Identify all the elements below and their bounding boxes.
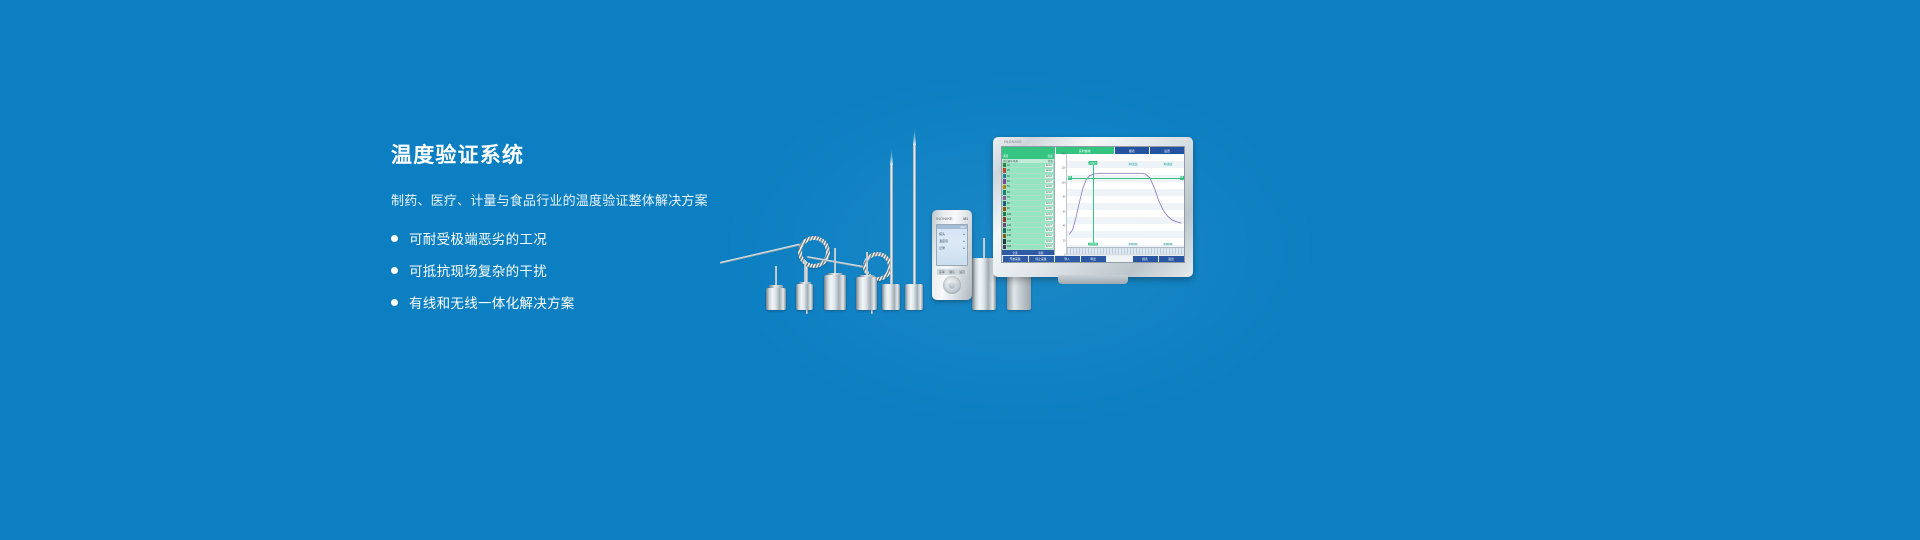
- handheld-menu-row[interactable]: 探头 ▸: [937, 232, 967, 236]
- logger-stem: [834, 248, 836, 274]
- handheld-model-label: M1: [963, 217, 968, 221]
- toolbar-spacer: [1107, 256, 1132, 262]
- chart-y-tick: 60: [1063, 210, 1066, 213]
- channel-color-swatch: [1003, 174, 1006, 178]
- logger-body: [796, 284, 813, 310]
- feature-label: 可抵抗现场复杂的干扰: [409, 260, 547, 280]
- handheld-softkeys: 菜单 确认 返回: [936, 269, 968, 275]
- logger-stem: [775, 266, 777, 286]
- channel-value: 121.4: [1045, 164, 1053, 167]
- feature-label: 有线和无线一体化解决方案: [409, 292, 575, 312]
- needle-probe-base-2: [905, 284, 923, 310]
- needle-probe-base-1: [882, 284, 900, 310]
- chart-y-tick: 120: [1061, 167, 1065, 170]
- chart-peak-annotation: 升温点: [1088, 161, 1097, 165]
- exit-button[interactable]: 退出: [1159, 256, 1184, 262]
- list-item: 可耐受极端恶劣的工况: [391, 228, 731, 248]
- channel-color-swatch: [1003, 163, 1006, 167]
- channel-color-swatch: [1003, 201, 1006, 205]
- channel-color-swatch: [1003, 179, 1006, 183]
- channel-value: 121.3: [1045, 175, 1053, 178]
- handheld-menu-row[interactable]: 温度值 ▸: [937, 239, 967, 243]
- channel-color-swatch: [1003, 239, 1006, 243]
- chart-ghost-label-d: 0:05:00: [1163, 243, 1173, 246]
- chart-y-tick: 20: [1063, 239, 1066, 242]
- handheld-key-menu[interactable]: 菜单: [937, 269, 947, 275]
- chart-time-annotation: 0:05:00: [1088, 242, 1098, 245]
- channel-color-swatch: [1003, 245, 1006, 249]
- chart-ghost-label-b: F0 终点: [1163, 162, 1173, 166]
- channel-id: 12#: [1007, 224, 1020, 227]
- monitor-bezel: INONIKE 实时曲线 报表 设置 通道: [993, 137, 1193, 277]
- channel-id: 4#: [1007, 180, 1020, 183]
- chevron-right-icon: ▸: [963, 239, 965, 243]
- banner-subtitle: 制药、医疗、计量与食品行业的温度验证整体解决方案: [391, 190, 731, 209]
- channel-value: 121.2: [1045, 191, 1053, 194]
- channel-id: 2#: [1007, 169, 1020, 172]
- logger-stem: [804, 260, 806, 284]
- channel-color-swatch: [1003, 228, 1006, 232]
- app-body: 通道 温度 测点编号/名称 状态 1#121.42#121.63#121.34#…: [1002, 154, 1184, 255]
- channel-value: 121.7: [1045, 180, 1053, 183]
- channel-value: 121.3: [1045, 213, 1053, 216]
- channel-table-rows: 1#121.42#121.63#121.34#121.75#121.56#121…: [1002, 163, 1054, 250]
- channel-value: 121.7: [1045, 224, 1053, 227]
- chevron-right-icon: ▸: [963, 246, 965, 250]
- channel-color-swatch: [1003, 168, 1006, 172]
- chart-y-axis: 020406080100120140: [1055, 154, 1067, 255]
- channel-id: 13#: [1007, 229, 1020, 232]
- chart-y-tick: 0: [1064, 254, 1065, 257]
- handheld-key-confirm[interactable]: 确认: [947, 269, 957, 275]
- channel-value: 121.2: [1045, 234, 1053, 237]
- channel-color-swatch: [1003, 234, 1006, 238]
- bullet-dot-icon: [391, 267, 398, 274]
- channel-color-swatch: [1003, 196, 1006, 200]
- chart-threshold-line: [1070, 178, 1182, 179]
- channel-id: 6#: [1007, 191, 1020, 194]
- logger-stem: [983, 238, 985, 260]
- chart-ghost-label-c: 0:05:00: [1128, 243, 1138, 246]
- channel-id: 11#: [1007, 218, 1020, 221]
- channel-value: 121.6: [1045, 169, 1053, 172]
- chart-series-svg: [1067, 154, 1184, 255]
- logger-body: [882, 284, 900, 310]
- channel-color-swatch: [1003, 207, 1006, 211]
- channel-table: 通道 温度 测点编号/名称 状态 1#121.42#121.63#121.34#…: [1002, 154, 1055, 255]
- handheld-key-back[interactable]: 返回: [957, 269, 967, 275]
- list-item: 有线和无线一体化解决方案: [391, 292, 731, 312]
- logger-stem: [866, 252, 868, 276]
- handheld-menu-label: 温度值: [939, 239, 948, 243]
- chart-y-tick: 40: [1063, 225, 1066, 228]
- handheld-menu-label: 记录: [939, 246, 945, 250]
- logger-body: [824, 275, 846, 310]
- report-button[interactable]: 报表: [1133, 256, 1158, 262]
- tab-report[interactable]: 报表: [1115, 147, 1149, 154]
- handheld-screen: REC 探头 ▸ 温度值 ▸ 记录 ▸: [936, 224, 968, 266]
- handheld-status-label: REC: [961, 226, 966, 229]
- channel-id: 7#: [1007, 196, 1020, 199]
- channel-id: 1#: [1007, 164, 1020, 167]
- channel-id: 15#: [1007, 240, 1020, 243]
- channel-color-swatch: [1003, 212, 1006, 216]
- monitor-stand: [1058, 275, 1128, 284]
- chevron-right-icon: ▸: [963, 232, 965, 236]
- chart-cursor-line[interactable]: [1093, 162, 1094, 244]
- chart-plot-area: F0 起点 F0 终点 升温点 0:05:00 F0 起点 F0 终点 0:05…: [1066, 154, 1184, 255]
- banner-copy: 温度验证系统 制药、医疗、计量与食品行业的温度验证整体解决方案 可耐受极端恶劣的…: [391, 143, 731, 324]
- feature-list: 可耐受极端恶劣的工况 可抵抗现场复杂的干扰 有线和无线一体化解决方案: [391, 228, 731, 312]
- logger-body: [856, 277, 877, 310]
- channel-value: 121.4: [1045, 229, 1053, 232]
- channel-value: 121.4: [1045, 202, 1053, 205]
- app-tabs: 实时曲线 报表 设置: [1055, 147, 1184, 154]
- data-logger-3: [824, 248, 846, 310]
- channel-value: 121.6: [1045, 207, 1053, 210]
- logger-body: [1007, 276, 1031, 310]
- channel-id: 16#: [1007, 245, 1020, 248]
- handheld-statusbar: REC: [937, 225, 967, 229]
- channel-id: 3#: [1007, 175, 1020, 178]
- handheld-dpad[interactable]: [943, 276, 961, 294]
- chart-y-tick: 80: [1063, 196, 1066, 199]
- monitor-screen: 实时曲线 报表 设置 通道 温度 测点编号/名称: [1001, 146, 1185, 263]
- channel-id: 9#: [1007, 207, 1020, 210]
- handheld-menu-label: 探头: [939, 232, 945, 236]
- import-button[interactable]: 导入: [1055, 256, 1080, 262]
- app-header-left: [1002, 147, 1055, 154]
- data-logger-4: [856, 250, 877, 310]
- channel-id: 14#: [1007, 234, 1020, 237]
- channel-color-swatch: [1003, 185, 1006, 189]
- channel-id: 10#: [1007, 213, 1020, 216]
- handheld-brand-label: INONIKE: [936, 216, 953, 221]
- handheld-brand-row: INONIKE M1: [936, 215, 968, 222]
- handheld-reader[interactable]: INONIKE M1 REC 探头 ▸ 温度值 ▸ 记录 ▸: [932, 210, 972, 300]
- chart-x-axis-scrollbar[interactable]: [1067, 247, 1184, 255]
- channel-value: 121.5: [1045, 245, 1053, 248]
- channel-value: 121.5: [1045, 218, 1053, 221]
- channel-value: 121.5: [1045, 185, 1053, 188]
- data-logger-squat: [1007, 276, 1031, 310]
- monitor-brand-label: INONIKE: [1004, 140, 1022, 144]
- data-logger-1: [766, 266, 786, 310]
- app-toolbar: 开始采集 停止采集 导入 导出 报表 退出: [1002, 255, 1184, 262]
- monitor-display: INONIKE 实时曲线 报表 设置 通道: [993, 137, 1193, 277]
- tab-settings[interactable]: 设置: [1150, 147, 1184, 154]
- chart-y-tick: 140: [1061, 153, 1065, 156]
- logger-body: [905, 284, 923, 310]
- channel-color-swatch: [1003, 190, 1006, 194]
- temperature-chart: 020406080100120140 F0 起点 F0 终点 升温点: [1055, 154, 1184, 255]
- channel-id: 5#: [1007, 185, 1020, 188]
- handheld-menu-row[interactable]: 记录 ▸: [937, 246, 967, 250]
- chart-y-tick: 100: [1061, 181, 1065, 184]
- feature-label: 可耐受极端恶劣的工况: [409, 228, 547, 248]
- list-item: 可抵抗现场复杂的干扰: [391, 260, 731, 280]
- channel-color-swatch: [1003, 217, 1006, 221]
- export-button[interactable]: 导出: [1081, 256, 1106, 262]
- start-capture-button[interactable]: 开始采集: [1003, 256, 1028, 262]
- hero-banner: 温度验证系统 制药、医疗、计量与食品行业的温度验证整体解决方案 可耐受极端恶劣的…: [0, 0, 1920, 540]
- logger-body: [766, 288, 786, 310]
- bullet-dot-icon: [391, 235, 398, 242]
- page-title: 温度验证系统: [391, 143, 731, 169]
- chart-ghost-label-a: F0 起点: [1128, 162, 1138, 166]
- channel-value: 121.8: [1045, 196, 1053, 199]
- app-header: 实时曲线 报表 设置: [1002, 147, 1184, 154]
- bullet-dot-icon: [391, 299, 398, 306]
- probe-wire: [720, 244, 800, 264]
- product-photo-group: INONIKE M1 REC 探头 ▸ 温度值 ▸ 记录 ▸: [700, 120, 1220, 310]
- stop-capture-button[interactable]: 停止采集: [1029, 256, 1054, 262]
- channel-value: 121.6: [1045, 240, 1053, 243]
- data-logger-2: [796, 258, 813, 310]
- channel-color-swatch: [1003, 223, 1006, 227]
- channel-id: 8#: [1007, 202, 1020, 205]
